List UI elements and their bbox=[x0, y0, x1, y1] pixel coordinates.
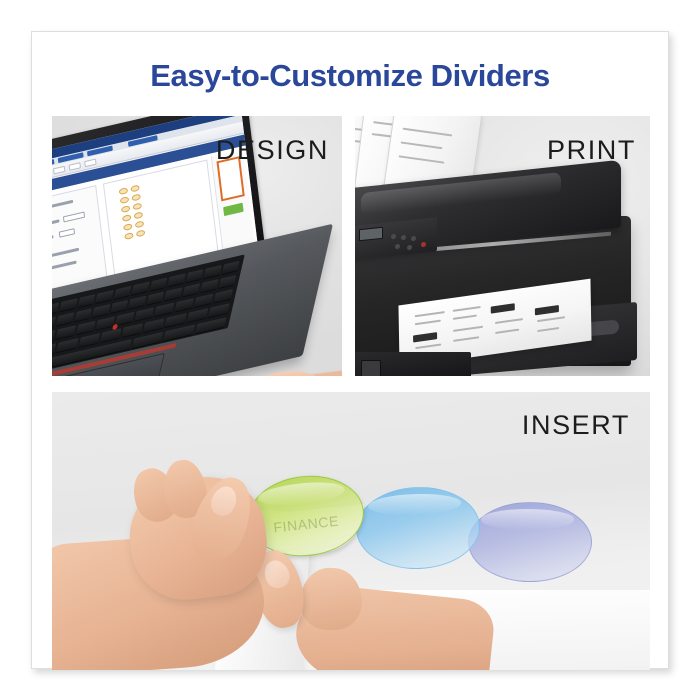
field-label-2 bbox=[52, 235, 54, 243]
panel-label-design: DESIGN bbox=[216, 135, 329, 166]
content-card: Easy-to-Customize Dividers bbox=[31, 31, 669, 669]
printer-memory-slot-cover[interactable] bbox=[361, 360, 381, 376]
tab-divider-purple bbox=[468, 502, 592, 582]
field-input-2 bbox=[59, 228, 75, 238]
panel-insert: FINANCE bbox=[52, 392, 650, 670]
preview-action-button[interactable] bbox=[223, 203, 244, 216]
field-label-1 bbox=[52, 219, 60, 229]
field-label-4 bbox=[52, 261, 77, 273]
page-title: Easy-to-Customize Dividers bbox=[32, 58, 668, 94]
panel-label-insert: INSERT bbox=[522, 410, 630, 441]
field-label-3 bbox=[52, 248, 79, 261]
panel-label-print: PRINT bbox=[547, 135, 636, 166]
hand-left-gripping-divider bbox=[112, 420, 312, 670]
pane-heading bbox=[52, 200, 73, 209]
product-feature-image: Easy-to-Customize Dividers bbox=[0, 0, 700, 700]
field-input-1 bbox=[63, 211, 85, 222]
hand-on-trackpad bbox=[212, 364, 342, 376]
printer-lcd-display bbox=[359, 227, 383, 242]
panel-design: DESIGN bbox=[52, 116, 342, 376]
panel-print: PRINT bbox=[355, 116, 650, 376]
